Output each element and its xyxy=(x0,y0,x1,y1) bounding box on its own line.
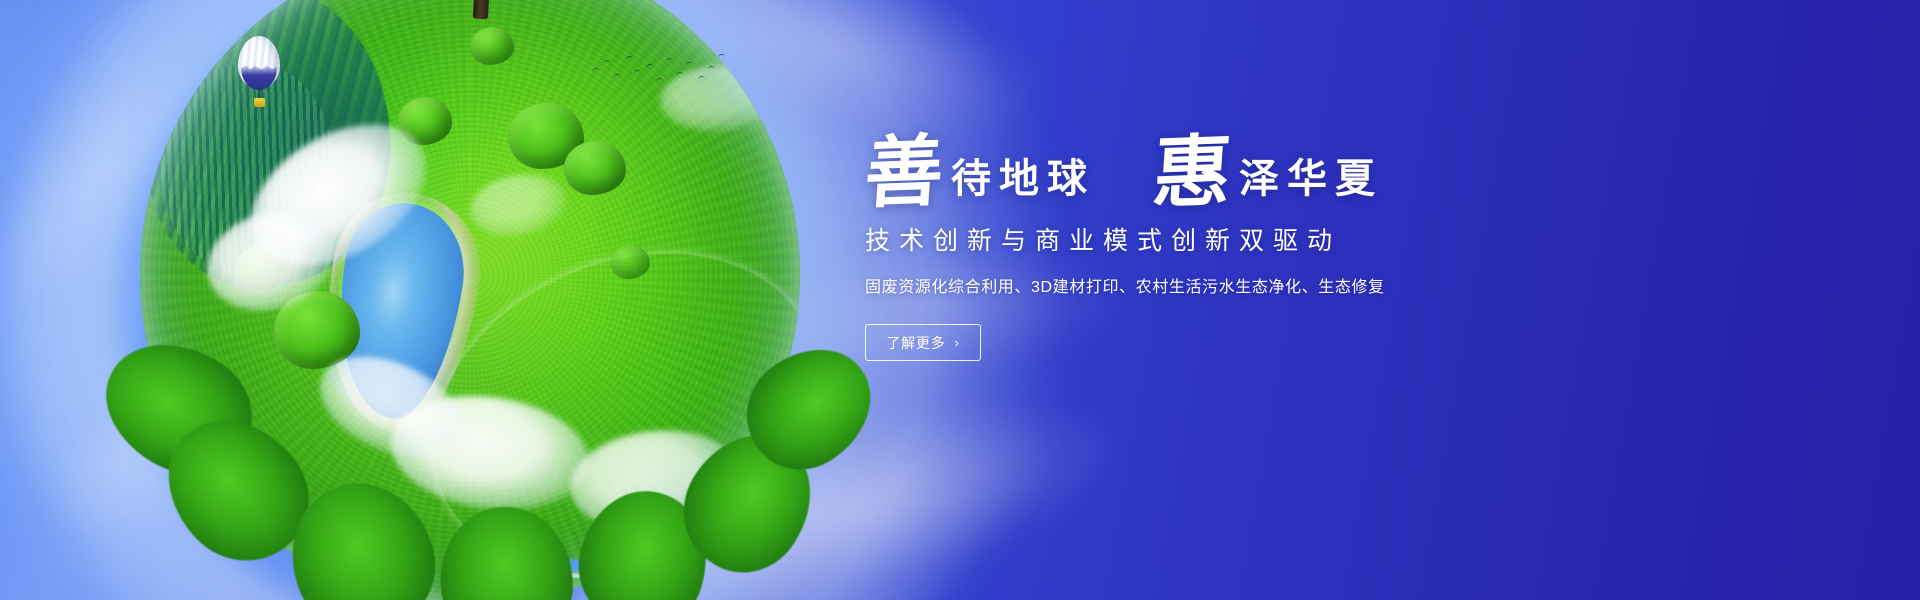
headline-char-hui: 惠 xyxy=(1150,135,1234,213)
bird-icon xyxy=(698,76,705,81)
birds-flock-icon xyxy=(590,48,730,94)
headline-text-daidiqiu: 待地球 xyxy=(951,159,1095,199)
headline-text-zehuaxia: 泽华夏 xyxy=(1239,159,1383,199)
bird-icon xyxy=(614,74,621,79)
learn-more-label: 了解更多 xyxy=(886,333,945,353)
bird-icon xyxy=(666,58,673,63)
bush-icon xyxy=(564,141,626,195)
bird-icon xyxy=(634,70,641,75)
chevron-right-icon: › xyxy=(955,336,960,349)
balloon-basket xyxy=(254,98,265,107)
bird-icon xyxy=(686,62,693,67)
hero-subtitle: 技术创新与商业模式创新双驱动 xyxy=(865,225,1585,259)
bush-icon xyxy=(610,245,650,279)
bird-icon xyxy=(676,72,683,77)
bird-icon xyxy=(708,66,715,71)
bird-icon xyxy=(592,68,599,73)
bird-icon xyxy=(604,60,611,65)
hero-content: 善 待地球 惠 泽华夏 技术创新与商业模式创新双驱动 固废资源化综合利用、3D建… xyxy=(865,136,1585,361)
bird-icon xyxy=(626,56,633,61)
learn-more-button[interactable]: 了解更多 › xyxy=(865,324,981,361)
page-title: 善 待地球 惠 泽华夏 xyxy=(865,136,1585,211)
bird-icon xyxy=(646,64,653,69)
bird-icon xyxy=(718,54,725,59)
hero-banner: 善 待地球 惠 泽华夏 技术创新与商业模式创新双驱动 固废资源化综合利用、3D建… xyxy=(0,0,1920,600)
hero-description: 固废资源化综合利用、3D建材打印、农村生活污水生态净化、生态修复 xyxy=(865,275,1585,301)
bird-icon xyxy=(656,78,663,83)
hot-air-balloon-icon xyxy=(238,36,280,110)
bush-icon xyxy=(470,27,514,65)
headline-char-shan: 善 xyxy=(862,135,946,213)
